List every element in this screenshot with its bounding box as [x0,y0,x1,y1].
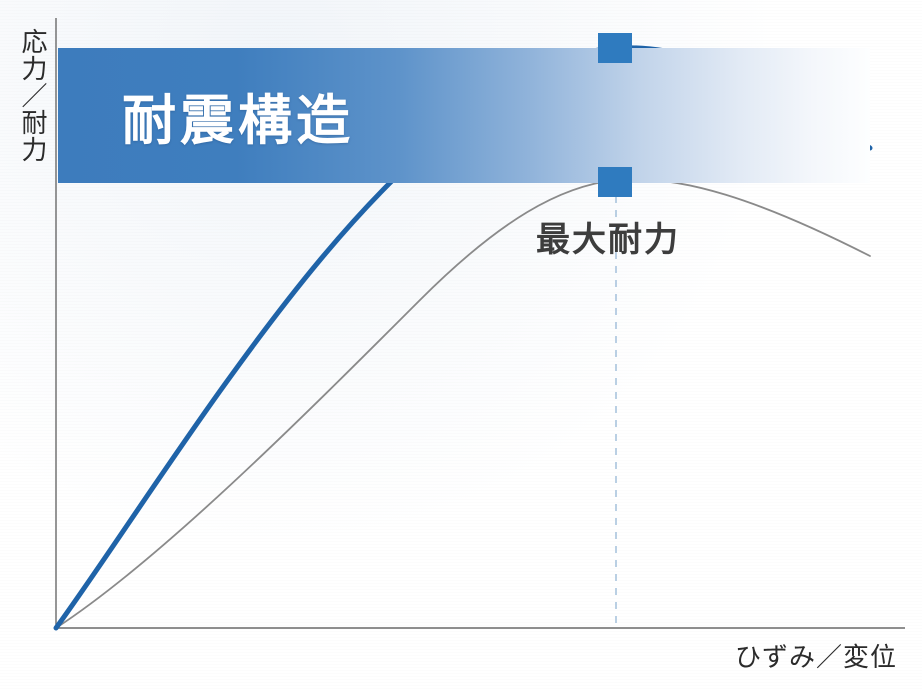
curve-conventional-structure [56,179,870,628]
marker-seismic-peak [598,33,632,63]
peak-capacity-label: 最大耐力 [536,212,680,261]
x-axis-label: ひずみ／変位 [735,637,897,674]
seismic-structure-banner: 耐震構造 [58,48,870,183]
y-axis-label: 応力／耐力 [6,28,46,163]
marker-conventional-peak [598,167,632,197]
banner-title: 耐震構造 [122,76,354,155]
earthquake-resistance-chart: 耐震構造 最大耐力 応力／耐力 ひずみ／変位 [0,0,922,689]
